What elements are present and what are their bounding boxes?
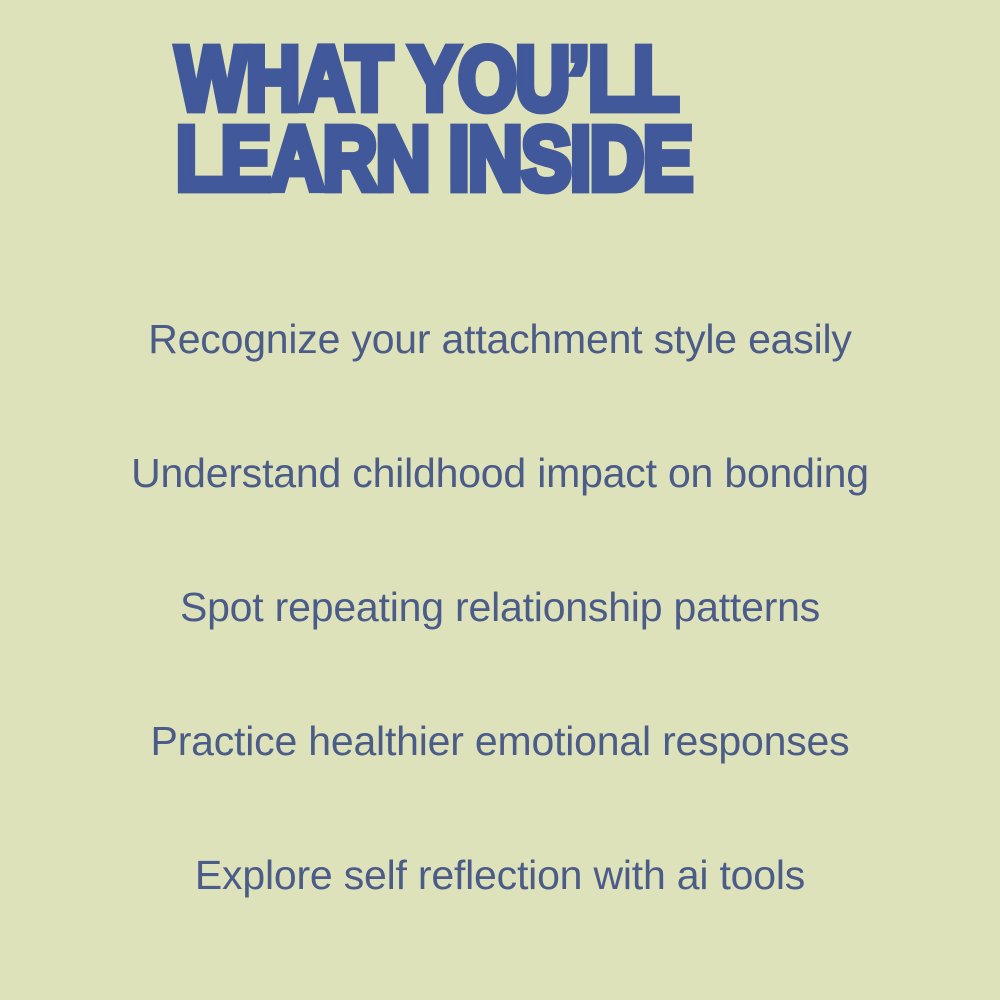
poster-canvas: WHAT YOU’LL LEARN INSIDE Recognize your … (0, 0, 1000, 1000)
benefit-item-1: Recognize your attachment style easily (0, 272, 1000, 406)
page-title-line-1: WHAT YOU’LL (176, 40, 820, 119)
page-title: WHAT YOU’LL LEARN INSIDE (176, 40, 876, 192)
benefit-item-5: Explore self reflection with ai tools (0, 808, 1000, 942)
page-title-line-2: LEARN INSIDE (176, 120, 820, 199)
benefit-item-3: Spot repeating relationship patterns (0, 540, 1000, 674)
benefit-item-2: Understand childhood impact on bonding (0, 406, 1000, 540)
benefits-list: Recognize your attachment style easily U… (0, 272, 1000, 942)
benefit-item-4: Practice healthier emotional responses (0, 674, 1000, 808)
